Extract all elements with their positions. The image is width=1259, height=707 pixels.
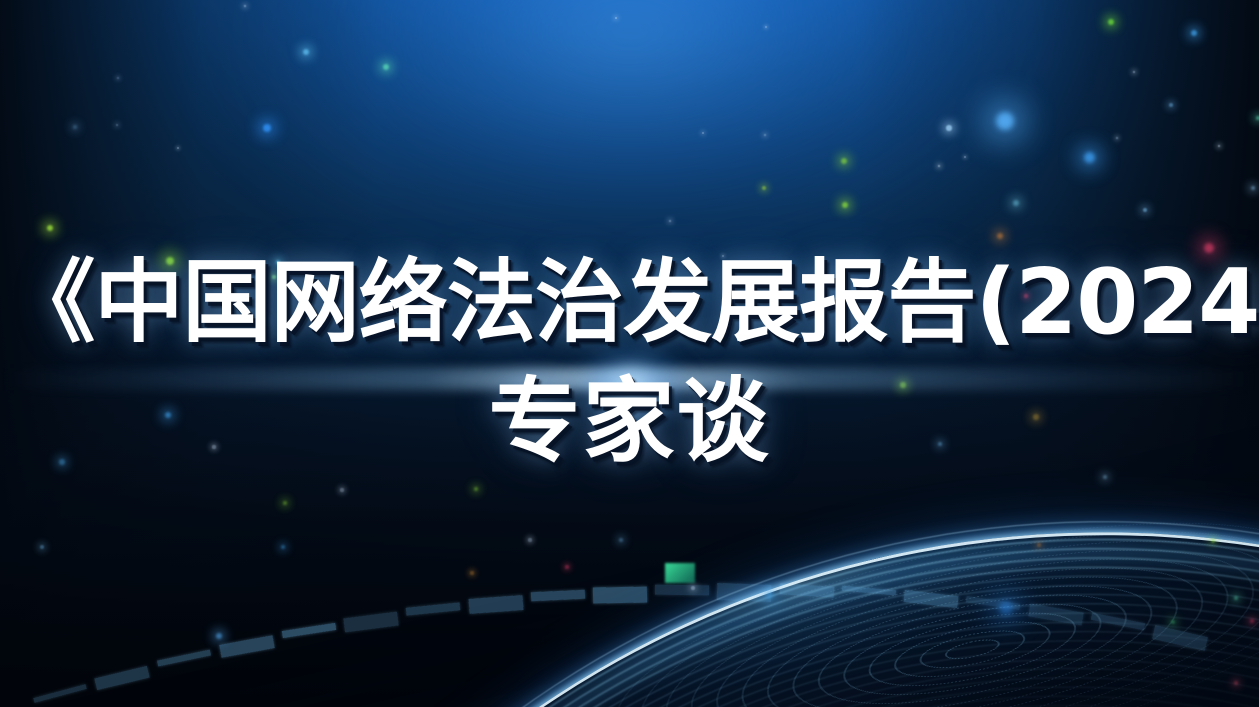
slide-canvas: 《中国网络法治发展报告(2024年)》 专家谈 <box>0 0 1259 707</box>
page-subtitle: 专家谈 <box>0 372 1259 472</box>
page-title: 《中国网络法治发展报告(2024年)》 <box>6 254 1252 352</box>
title-block: 《中国网络法治发展报告(2024年)》 专家谈 <box>0 0 1259 707</box>
